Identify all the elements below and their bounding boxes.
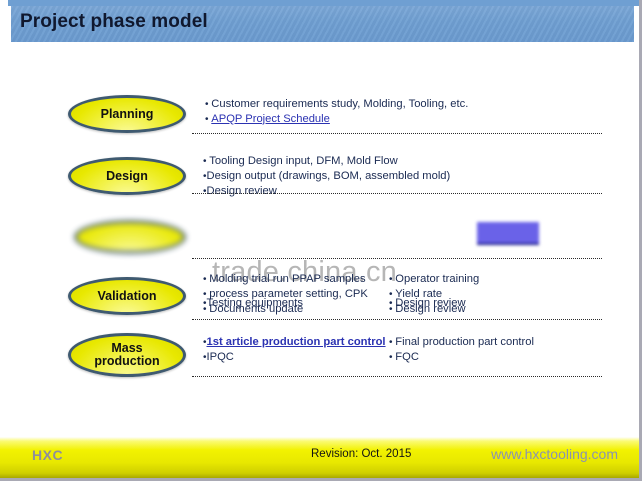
phase-bullets-planning: Customer requirements study, Molding, To… <box>205 97 468 127</box>
bullet-text: Tooling Design input, DFM, Mold Flow <box>209 155 397 167</box>
phase-ellipse-validation[interactable]: Validation <box>68 277 186 315</box>
phase-bullets-design: Tooling Design input, DFM, Mold Flow Des… <box>203 154 450 198</box>
phase-divider <box>192 133 602 134</box>
phase-ellipse-planning[interactable]: Planning <box>68 95 186 133</box>
bullet-item: FQC <box>389 350 534 365</box>
apqp-project-schedule-link[interactable]: APQP Project Schedule <box>211 113 330 125</box>
phase-divider <box>192 193 602 194</box>
bullet-item[interactable]: APQP Project Schedule <box>205 112 468 127</box>
bullet-item: Documents update <box>203 302 368 317</box>
bullet-item: Molding trial run PPAP samples <box>203 272 368 287</box>
bullet-text: Design review <box>395 303 465 315</box>
slide: Project phase model Planning Customer re… <box>0 0 642 481</box>
phase-divider <box>192 376 602 377</box>
bullet-item: Design review <box>389 302 479 317</box>
bullet-item: IPQC <box>203 350 386 365</box>
phase-bullets-validation-col2: Operator training Yield rate Design revi… <box>389 272 479 316</box>
bullet-item[interactable]: 1st article production part control <box>203 335 386 350</box>
phase-bullets-mass-col2: Final production part control FQC <box>389 335 534 365</box>
bullet-item: Final production part control <box>389 335 534 350</box>
phase-label-planning: Planning <box>101 108 154 121</box>
phase-ellipse-design[interactable]: Design <box>68 157 186 195</box>
phase-bullets-mass-col1: 1st article production part control IPQC <box>203 335 386 365</box>
phase-divider <box>192 258 602 259</box>
bullet-text: process parameter setting, CPK <box>209 288 368 300</box>
bullet-text: Final production part control <box>395 336 534 348</box>
bullet-item: Tooling Design input, DFM, Mold Flow <box>203 154 450 169</box>
bullet-item: process parameter setting, CPK <box>203 287 368 302</box>
bullet-item: Customer requirements study, Molding, To… <box>205 97 468 112</box>
page-title: Project phase model <box>20 11 208 33</box>
phase-ellipse-obscured[interactable] <box>74 220 186 254</box>
bullet-text: IPQC <box>207 351 234 363</box>
phase-ellipse-mass-production[interactable]: Mass production <box>68 333 186 377</box>
bullet-item: Operator training <box>389 272 479 287</box>
phase-label-validation: Validation <box>97 290 156 303</box>
first-article-control-link[interactable]: 1st article production part control <box>207 336 386 348</box>
footer-revision: Revision: Oct. 2015 <box>311 448 411 460</box>
bullet-text: Yield rate <box>395 288 442 300</box>
phase-divider <box>192 319 602 320</box>
footer-website-url[interactable]: www.hxctooling.com <box>491 446 618 462</box>
bullet-text: Operator training <box>395 273 479 285</box>
bullet-item: Design review <box>203 184 450 199</box>
bullet-item: Yield rate <box>389 287 479 302</box>
bullet-text: Molding trial run PPAP samples <box>209 273 365 285</box>
title-bar-left-strip <box>0 0 8 48</box>
phase-bullets-validation-col1: Molding trial run PPAP samples process p… <box>203 272 368 316</box>
bullet-item: Design output (drawings, BOM, assembled … <box>203 169 450 184</box>
phase-label-design: Design <box>106 170 148 183</box>
bullet-text: Documents update <box>209 303 303 315</box>
footer-logo: HXC <box>32 447 63 463</box>
phase-list: Planning Customer requirements study, Mo… <box>0 48 642 438</box>
bullet-text: Customer requirements study, Molding, To… <box>211 98 468 110</box>
bullet-text: Design review <box>207 185 277 197</box>
obscured-blue-box <box>477 222 539 245</box>
bullet-text: Design output (drawings, BOM, assembled … <box>207 170 451 182</box>
phase-label-mass-production: Mass production <box>94 342 159 368</box>
bullet-text: FQC <box>395 351 419 363</box>
footer-bar: HXC Revision: Oct. 2015 www.hxctooling.c… <box>0 437 642 478</box>
